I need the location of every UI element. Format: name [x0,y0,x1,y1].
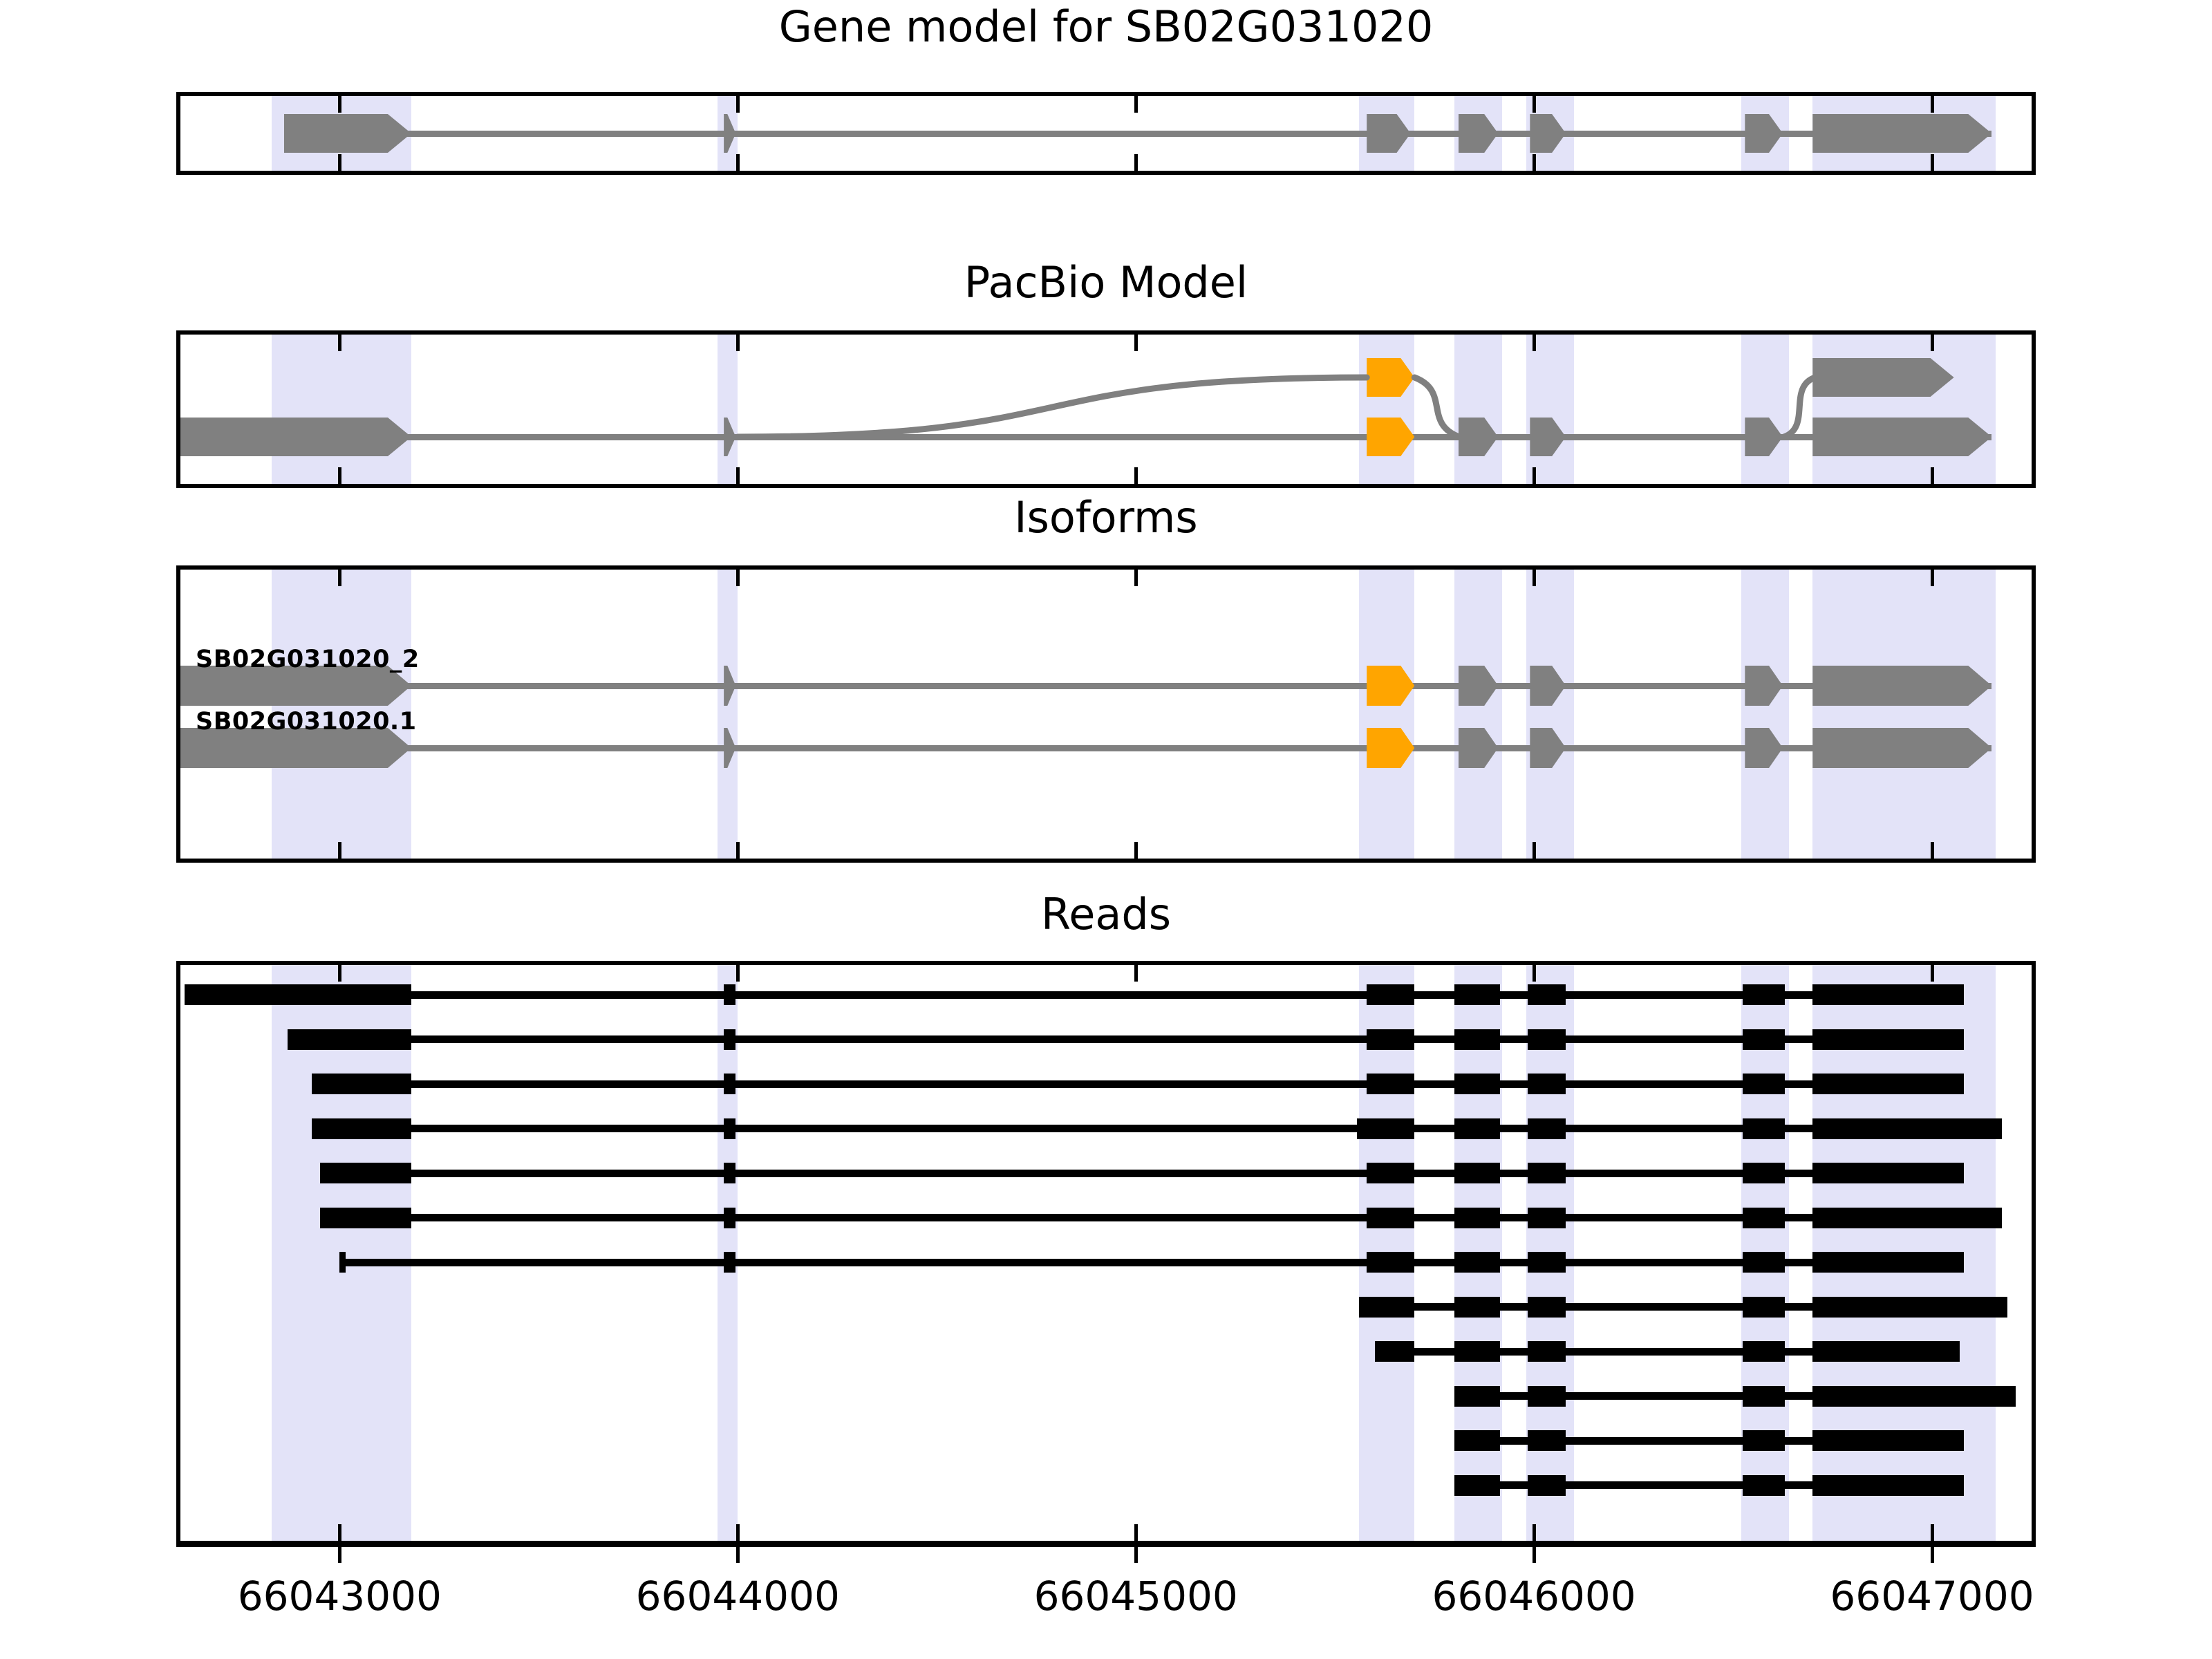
read-block [724,1163,735,1183]
read-block [288,1029,411,1050]
read-block [1454,1252,1500,1273]
read-block [1743,1341,1784,1362]
axis-tick-mark [736,842,740,859]
axis-tick-mark [1134,335,1138,351]
read-block [1454,1386,1500,1407]
intron-line [284,131,1992,137]
read-block [1454,1430,1500,1451]
exon-block [1812,114,1991,153]
read-block [1743,1475,1784,1496]
read-block [1743,1208,1784,1228]
exon-block [1812,418,1991,456]
exon-block [1812,666,1991,706]
read-block [1528,1341,1566,1362]
panel-isoforms: SB02G031020_2SB02G031020.1 [176,565,2036,863]
intron-line [339,1259,1964,1266]
axis-tick-mark [338,570,341,586]
axis-tick-mark [1931,467,1934,484]
read-block [1812,1074,1964,1094]
axis-tick-label: 66046000 [1432,1573,1635,1620]
read-block [724,1208,735,1228]
read-block [1528,1386,1566,1407]
read-block [1454,1297,1500,1318]
axis-tick-mark [338,335,341,351]
axis-tick-mark [1533,467,1536,484]
intron-line [180,745,1991,751]
exon-block [284,114,411,153]
read-block [1812,1163,1964,1183]
figure-root: Gene model for SB02G031020 PacBio Model … [0,0,2212,1659]
read-block [1454,1074,1500,1094]
read-block [1528,1029,1566,1050]
isoform-label: SB02G031020_2 [196,646,420,673]
read-block [339,1252,346,1273]
read-block [1743,1118,1784,1139]
read-block [1454,1341,1500,1362]
axis-tick [1931,1545,1934,1563]
axis-tick-label: 66045000 [1034,1573,1238,1620]
axis-tick-mark [736,1524,740,1541]
axis-tick-mark [1533,154,1536,171]
read-block [1743,984,1784,1005]
highlight-region [1526,335,1574,484]
read-block [1528,1208,1566,1228]
highlight-region [1454,570,1502,859]
axis-tick-mark [1931,335,1934,351]
intron-line [180,683,1991,689]
read-block [724,1252,735,1273]
axis-tick-mark [736,570,740,586]
intron-line [288,1035,1964,1043]
read-block [1454,1163,1500,1183]
axis-tick-mark [338,965,341,982]
read-block [1454,984,1500,1005]
intron-line [320,1170,1965,1177]
highlight-region [718,335,738,484]
splice-curve [738,377,1367,437]
read-block [1812,984,1964,1005]
highlight-region [1812,335,1996,484]
axis-tick-mark [338,842,341,859]
read-block [1812,1252,1964,1273]
read-block [1528,1475,1566,1496]
read-block [1812,1386,2016,1407]
highlight-region [1741,335,1789,484]
read-block [1367,1208,1414,1228]
read-block [1812,1297,2007,1318]
axis-tick-mark [736,965,740,982]
panel-title-gene-model: Gene model for SB02G031020 [0,6,2212,48]
axis-tick-mark [1533,96,1536,113]
isoform-label: SB02G031020.1 [196,708,417,735]
axis-tick [1533,1545,1536,1563]
axis-tick-mark [1931,965,1934,982]
highlight-region [718,570,738,859]
axis-tick-mark [1931,570,1934,586]
read-block [1743,1029,1784,1050]
read-block [1743,1252,1784,1273]
read-block [1812,1118,2002,1139]
axis-tick-mark [736,96,740,113]
read-block [1528,1297,1566,1318]
axis-tick-mark [1134,965,1138,982]
axis-tick-label: 66043000 [238,1573,442,1620]
read-block [1454,1475,1500,1496]
axis-tick-mark [1134,96,1138,113]
highlight-region [1526,570,1574,859]
axis-tick-mark [338,1524,341,1541]
read-block [320,1163,411,1183]
intron-line [185,991,1964,999]
read-block [724,1029,735,1050]
read-block [1367,1163,1414,1183]
axis-tick-mark [736,467,740,484]
axis-tick-mark [1533,335,1536,351]
axis-tick-mark [338,96,341,113]
highlight-region [1454,335,1502,484]
axis-tick-mark [1931,96,1934,113]
axis-tick-mark [1931,1524,1934,1541]
read-block [724,1074,735,1094]
read-block [185,984,411,1005]
axis-tick [1134,1545,1138,1563]
read-block [1812,1475,1964,1496]
axis-tick-mark [1931,154,1934,171]
read-block [1454,1029,1500,1050]
splice-curve [1414,377,1459,437]
axis-tick-mark [736,335,740,351]
read-block [1528,1118,1566,1139]
read-block [1375,1341,1415,1362]
read-block [1528,1252,1566,1273]
panel-title-pacbio-model: PacBio Model [0,261,2212,304]
read-block [1812,1208,2002,1228]
highlight-region [1359,570,1415,859]
axis-tick-mark [736,154,740,171]
highlight-region [1812,570,1996,859]
exon-block [1812,728,1991,768]
axis-tick-mark [1134,1524,1138,1541]
read-block [1812,1029,1964,1050]
axis-spine [176,1541,2036,1547]
panel-gene-model [176,92,2036,175]
read-block [1454,1208,1500,1228]
read-block [1367,984,1414,1005]
highlight-region [1741,570,1789,859]
read-block [1367,1074,1414,1094]
read-block [724,984,735,1005]
read-block [1743,1163,1784,1183]
panel-reads [176,961,2036,1545]
read-block [1812,1430,1964,1451]
panel-title-isoforms: Isoforms [0,496,2212,539]
read-block [1367,1252,1414,1273]
read-block [320,1208,411,1228]
panel-pacbio-model [176,330,2036,488]
intron-line [312,1080,1964,1088]
axis-tick-mark [1134,154,1138,171]
intron-line [180,434,1991,440]
axis-tick [736,1545,740,1563]
axis-tick-mark [338,467,341,484]
axis-tick-mark [1533,842,1536,859]
read-block [1454,1118,1500,1139]
read-block [1743,1386,1784,1407]
read-block [1743,1297,1784,1318]
panel-title-reads: Reads [0,893,2212,936]
axis-tick-mark [338,154,341,171]
read-block [1359,1297,1415,1318]
exon-block [180,418,411,456]
axis-tick-label: 66047000 [1830,1573,2034,1620]
axis-tick-mark [1533,965,1536,982]
highlight-region [1359,335,1415,484]
read-block [1743,1430,1784,1451]
read-block [1367,1029,1414,1050]
read-block [312,1118,411,1139]
axis-tick-mark [1931,842,1934,859]
axis-tick-mark [1134,467,1138,484]
read-block [724,1118,735,1139]
read-block [1357,1118,1415,1139]
axis-tick [338,1545,341,1563]
highlight-region [272,335,411,484]
axis-tick-mark [1134,570,1138,586]
axis-tick-label: 66044000 [636,1573,840,1620]
axis-tick-mark [1533,570,1536,586]
read-block [1743,1074,1784,1094]
read-block [1528,1163,1566,1183]
read-block [312,1074,411,1094]
exon-block [1812,358,1953,397]
axis-tick-mark [1533,1524,1536,1541]
axis-tick-mark [1134,842,1138,859]
read-block [1528,1430,1566,1451]
read-block [1528,984,1566,1005]
read-block [1528,1074,1566,1094]
read-block [1812,1341,1960,1362]
